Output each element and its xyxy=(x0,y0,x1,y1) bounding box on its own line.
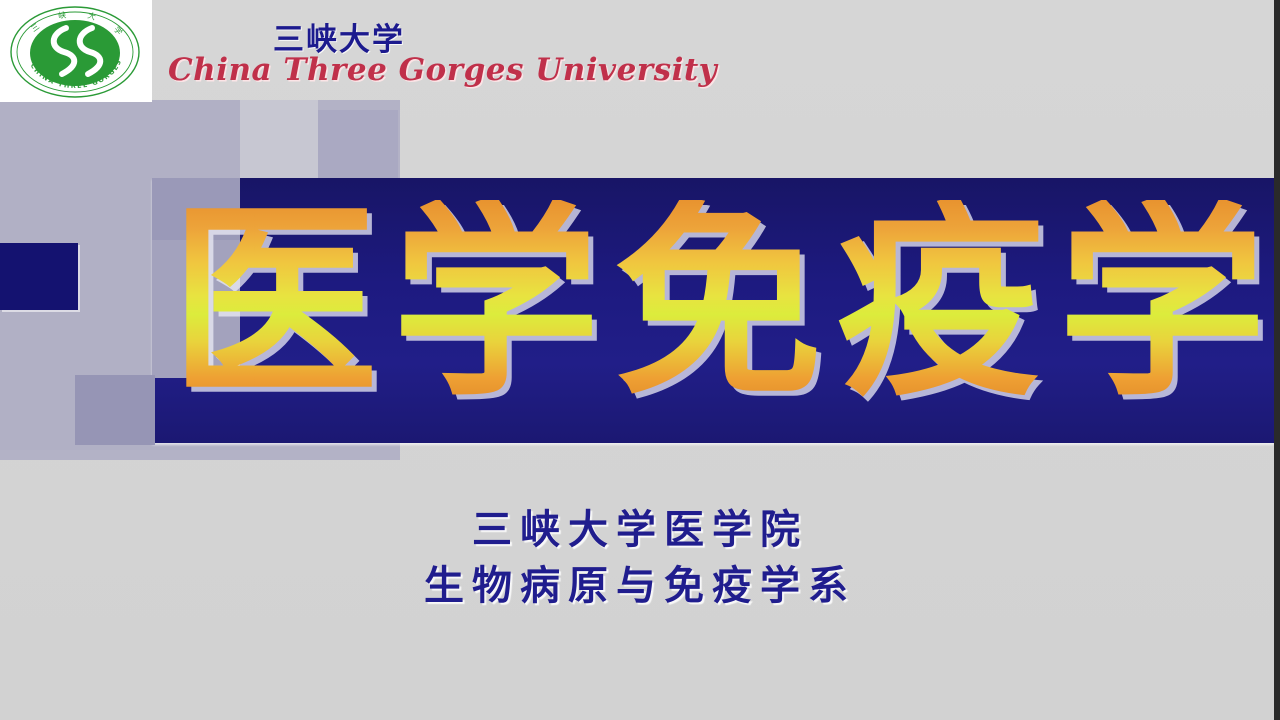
right-edge-strip xyxy=(1274,0,1280,720)
logo-panel: 三 峡 大 学 CHINA THREE GORGES UNIVERSITY xyxy=(0,0,152,102)
decorative-square-light-b xyxy=(318,110,398,180)
banner-notch-lower xyxy=(152,240,240,378)
title-banner xyxy=(152,178,1274,443)
department-line-2: 生物病原与免疫学系 xyxy=(0,553,1280,611)
banner-notch-upper xyxy=(152,178,240,240)
decorative-square-light-a xyxy=(240,100,318,178)
department-line-1: 三峡大学医学院 xyxy=(0,497,1280,555)
decorative-navy-chip xyxy=(0,243,78,310)
presentation-slide: 医学免疫学 三 峡 大 学 CHINA THREE GORGES UNIVERS… xyxy=(0,0,1280,720)
university-name-en: China Three Gorges University xyxy=(168,52,717,88)
china-three-gorges-university-seal-icon: 三 峡 大 学 CHINA THREE GORGES UNIVERSITY xyxy=(8,4,142,100)
decorative-square-mid-c xyxy=(75,375,155,445)
